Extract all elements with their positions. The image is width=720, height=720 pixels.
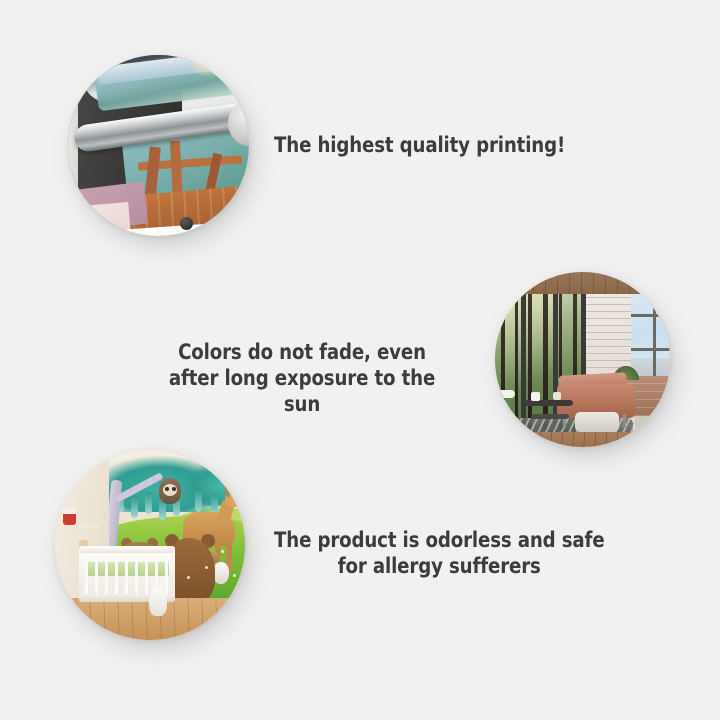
printing-machine-photo: [68, 55, 249, 236]
forest-mural-illustration: [495, 272, 670, 447]
forest-mural-living-room-photo: [495, 272, 670, 447]
nursery-animal-mural-photo: [55, 450, 245, 640]
feature-text-colors: Colors do not fade, even after long expo…: [161, 340, 443, 418]
nursery-mural-illustration: [55, 450, 245, 640]
feature-text-odorless: The product is odorless and safe for all…: [274, 528, 605, 580]
infographic-page: The highest quality printing!: [0, 0, 720, 720]
printing-machine-illustration: [68, 55, 249, 236]
feature-text-printing: The highest quality printing!: [274, 133, 565, 159]
